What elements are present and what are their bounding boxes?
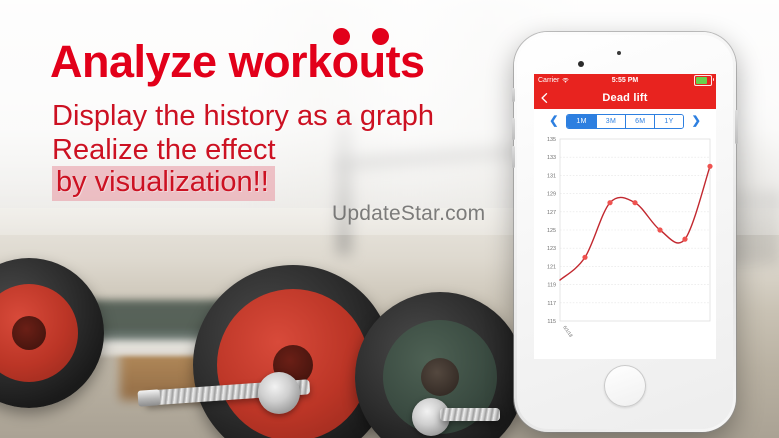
subtitle-line-1: Display the history as a graph	[52, 100, 434, 133]
svg-text:6/1/18: 6/1/18	[562, 325, 574, 339]
svg-text:117: 117	[547, 301, 556, 307]
svg-text:127: 127	[547, 210, 556, 216]
range-option-6m[interactable]: 6M	[626, 115, 655, 128]
svg-text:131: 131	[547, 173, 556, 179]
status-bar-time: 5:55 PM	[534, 77, 716, 84]
prev-range-arrow[interactable]: ❮	[549, 116, 558, 127]
front-camera	[578, 61, 584, 67]
watermark: UpdateStar.com	[332, 202, 485, 226]
next-range-arrow[interactable]: ❯	[692, 116, 701, 127]
svg-text:121: 121	[547, 264, 556, 270]
history-chart[interactable]: 1351331311291271251231211191171156/1/18	[534, 133, 716, 358]
segmented-control: 1M 3M 6M 1Y	[566, 114, 683, 129]
svg-text:123: 123	[547, 246, 556, 252]
svg-text:119: 119	[547, 283, 556, 289]
chart-svg: 1351331311291271251231211191171156/1/18	[534, 133, 716, 358]
volume-up-button[interactable]	[512, 118, 515, 140]
chevron-left-icon[interactable]	[539, 93, 550, 104]
phone-screen: Carrier 5:55 PM Dead lift ❮ 1M	[534, 74, 716, 359]
proximity-sensor	[617, 51, 621, 55]
svg-text:135: 135	[547, 137, 556, 143]
status-bar-right	[694, 75, 712, 86]
page-title: Analyze workouts	[50, 36, 425, 88]
svg-text:133: 133	[547, 155, 556, 161]
svg-text:115: 115	[547, 319, 556, 325]
background-barbell-end	[137, 389, 160, 406]
range-option-1y[interactable]: 1Y	[655, 115, 682, 128]
background-barbell-bar	[440, 408, 500, 421]
range-option-3m[interactable]: 3M	[597, 115, 626, 128]
volume-down-button[interactable]	[512, 146, 515, 168]
mute-switch[interactable]	[512, 88, 515, 102]
svg-text:129: 129	[547, 192, 556, 198]
battery-icon	[694, 75, 712, 86]
subtitle-line-2: Realize the effect	[52, 134, 276, 167]
range-selector: ❮ 1M 3M 6M 1Y ❯	[534, 109, 716, 133]
subtitle-line-3: by visualization!!	[52, 166, 275, 201]
background-collar	[258, 372, 300, 414]
status-bar: Carrier 5:55 PM	[534, 74, 716, 87]
promo-banner: Analyze workouts Display the history as …	[0, 0, 779, 438]
home-button[interactable]	[604, 365, 646, 407]
power-button[interactable]	[735, 110, 738, 144]
svg-text:125: 125	[547, 228, 556, 234]
range-option-1m[interactable]: 1M	[567, 115, 596, 128]
screen-title: Dead lift	[534, 92, 716, 104]
navigation-bar: Dead lift	[534, 87, 716, 109]
